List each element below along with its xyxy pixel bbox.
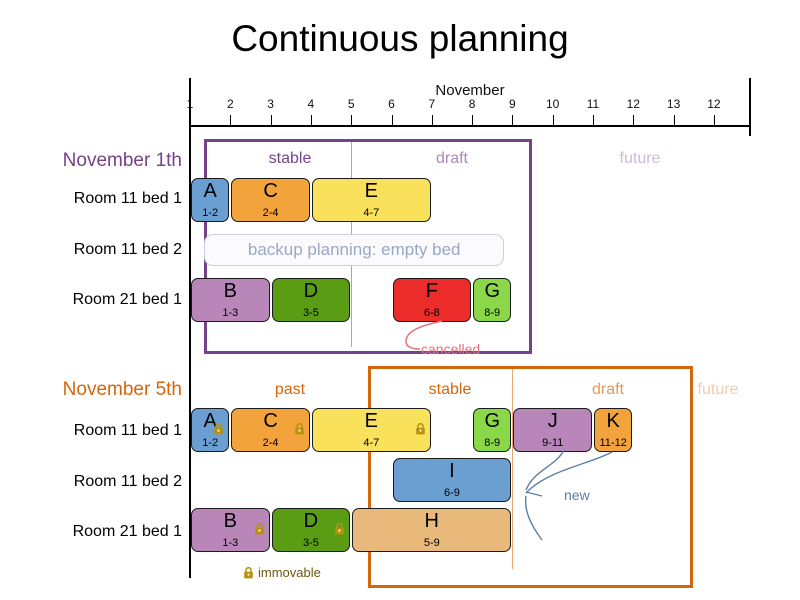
bar-title: K: [595, 410, 631, 432]
bar-range: 6-9: [394, 487, 511, 499]
bar-title: I: [394, 460, 511, 482]
zone-caption-november-5th-stable: stable: [380, 381, 520, 399]
bar-november-5th-G[interactable]: G8-9: [473, 408, 511, 452]
bar-november-5th-H[interactable]: H5-9: [352, 508, 511, 552]
lock-icon: [254, 522, 265, 534]
row-label-november-5th-1: Room 11 bed 2: [0, 473, 182, 491]
lock-icon: [334, 522, 345, 534]
bar-range: 1-2: [192, 437, 228, 449]
row-label-november-5th-2: Room 21 bed 1: [0, 523, 182, 541]
bar-title: H: [353, 510, 510, 532]
lock-icon: [243, 567, 254, 579]
bar-november-5th-I[interactable]: I6-9: [393, 458, 512, 502]
lock-icon: [213, 422, 224, 434]
bar-range: 3-5: [273, 537, 350, 549]
new-label: new: [564, 487, 590, 503]
bar-range: 4-7: [313, 437, 430, 449]
lock-icon: [415, 422, 426, 434]
zone-caption-november-5th-future: future: [648, 381, 788, 399]
zone-divider-november-5th: [512, 369, 513, 569]
lock-icon: [294, 422, 305, 434]
bar-range: 8-9: [474, 437, 510, 449]
immovable-legend-label: immovable: [258, 565, 321, 580]
bar-november-5th-E[interactable]: E4-7: [312, 408, 431, 452]
bar-range: 2-4: [232, 437, 309, 449]
bar-november-5th-A[interactable]: A1-2: [191, 408, 229, 452]
row-label-november-5th-0: Room 11 bed 1: [0, 422, 182, 440]
section-label-november-5th: November 5th: [0, 379, 182, 401]
bar-range: 5-9: [353, 537, 510, 549]
cancelled-label: cancelled: [421, 341, 480, 357]
bar-range: 1-3: [192, 537, 269, 549]
bar-november-5th-D[interactable]: D3-5: [272, 508, 351, 552]
bar-title: J: [514, 410, 591, 432]
immovable-legend: immovable: [243, 565, 321, 580]
bar-november-5th-B[interactable]: B1-3: [191, 508, 270, 552]
zone-caption-november-5th-past: past: [220, 381, 360, 399]
section-november-5th: November 5thRoom 11 bed 1Room 11 bed 2Ro…: [0, 0, 800, 600]
bar-november-5th-C[interactable]: C2-4: [231, 408, 310, 452]
slide-canvas: Continuous planning November123456789101…: [0, 0, 800, 600]
bar-title: G: [474, 410, 510, 432]
bar-title: E: [313, 410, 430, 432]
